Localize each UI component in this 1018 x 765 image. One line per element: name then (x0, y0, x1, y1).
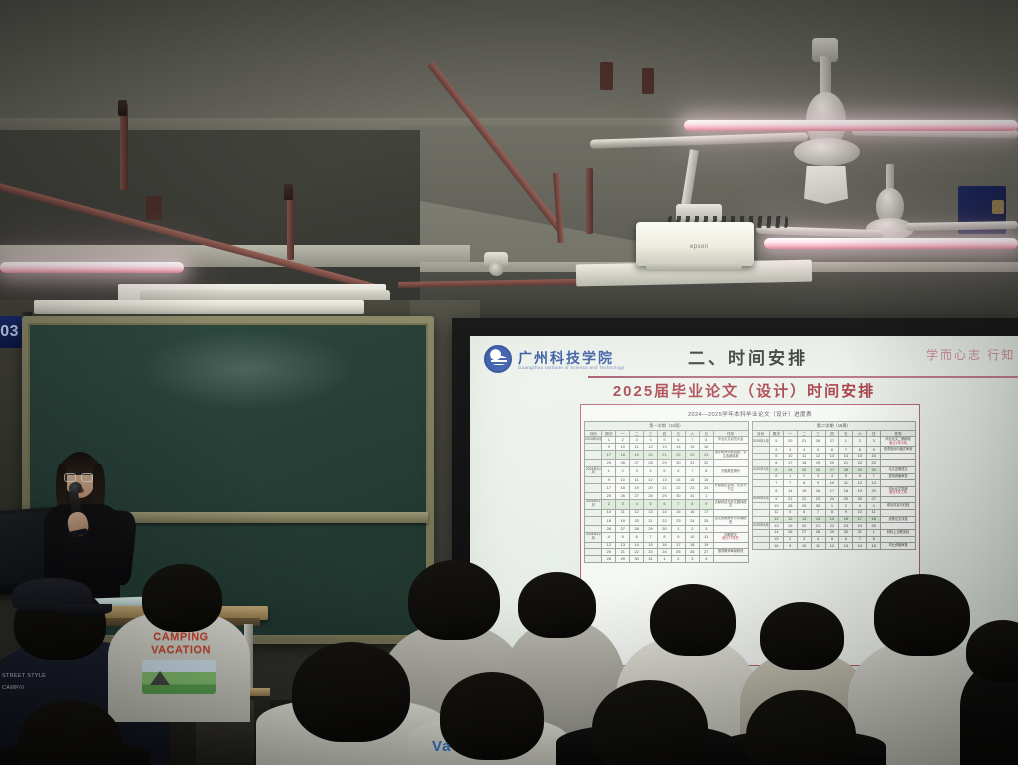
schedule-day-cell: 12 (644, 444, 658, 451)
schedule-day-cell: 9 (602, 476, 616, 483)
schedule-day-cell: 4 (602, 532, 616, 542)
schedule-day-cell: 16 (839, 516, 853, 523)
schedule-row: 617181920212223 (752, 460, 916, 467)
schedule-row: 910111213141516 (585, 444, 749, 451)
student-cap-brim (56, 604, 112, 616)
schedule-day-cell: 12 (783, 516, 797, 523)
schedule-row: 2021222324252627指导教师审阅修改 (585, 549, 749, 556)
room-number-sign: 03 (0, 316, 22, 348)
schedule-day-cell: 6 (658, 499, 672, 509)
schedule-day-cell: 24 (699, 483, 713, 493)
schedule-day-cell: 23 (685, 483, 699, 493)
schedule-day-cell: 8 (769, 487, 783, 497)
schedule-day-cell: 27 (797, 529, 811, 536)
schedule-day-cell: 29 (658, 493, 672, 500)
schedule-day-cell: 15 (685, 444, 699, 451)
schedule-month-cell: 2025年1月 (752, 437, 769, 447)
schedule-row: 152345678 (752, 536, 916, 543)
schedule-day-cell: 3 (853, 503, 867, 510)
schedule-day-cell: 19 (811, 460, 825, 467)
schedule-day-cell: 7 (685, 437, 699, 444)
schedule-month-cell: 2025年5月 (752, 523, 769, 530)
schedule-day-cell: 21 (644, 516, 658, 526)
schedule-day-cell: 7 (783, 480, 797, 487)
schedule-day-cell: 31 (685, 460, 699, 467)
schedule-day-cell: 8 (797, 480, 811, 487)
schedule-table-frame: 2024—2025学年本科毕业论文（设计）进度表 第一学期（16周） 月份周次一… (580, 404, 920, 666)
schedule-day-cell: 6 (630, 532, 644, 542)
schedule-day-cell: 30 (867, 466, 881, 473)
lecture-hall-photo: epson 03 (0, 0, 1018, 765)
schedule-day-cell: 13 (839, 543, 853, 550)
schedule-day-cell: 26 (853, 496, 867, 503)
schedule-day-cell: 2 (853, 437, 867, 447)
schedule-day-cell: 5 (658, 466, 672, 476)
projector-brand-label: epson (690, 244, 708, 250)
semester-2-body: 2025年1月520212627123毕业论文二稿修改截止1月中旬2345678… (752, 437, 916, 549)
schedule-day-cell: 15 (853, 453, 867, 460)
schedule-day-cell: 25 (797, 466, 811, 473)
schedule-day-cell: 21 (839, 460, 853, 467)
student-head-front-1 (292, 642, 410, 742)
schedule-month-cell (752, 516, 769, 523)
schedule-day-cell: 5 (839, 473, 853, 480)
schedule-month-cell (752, 529, 769, 536)
schedule-day-cell: 8 (685, 499, 699, 509)
schedule-day-cell: 29 (658, 460, 672, 467)
schedule-day-cell: 18 (839, 487, 853, 497)
schedule-day-cell: 12 (769, 516, 783, 523)
schedule-day-cell: 16 (811, 487, 825, 497)
schedule-day-cell: 18 (602, 516, 616, 526)
student-head-7 (874, 574, 970, 656)
schedule-day-cell: 20 (867, 487, 881, 497)
schedule-month-cell: 2024年12月 (585, 532, 602, 542)
fluorescent-tube-3 (0, 262, 184, 273)
student-head-4 (518, 572, 596, 638)
schedule-day-cell: 23 (644, 549, 658, 556)
schedule-day-cell: 28 (602, 556, 616, 563)
fluorescent-tube-1 (684, 120, 1018, 131)
schedule-day-cell: 8 (825, 509, 839, 516)
schedule-day-cell: 22 (671, 483, 685, 493)
schedule-month-cell (752, 473, 769, 480)
schedule-note-cell (713, 460, 748, 467)
schedule-day-cell: 25 (602, 460, 616, 467)
schedule-row: 252627282930311 (585, 493, 749, 500)
schedule-row: 2025年4月921222324252627 (752, 496, 916, 503)
student-head-3 (408, 560, 500, 640)
schedule-day-cell: 15 (825, 516, 839, 523)
schedule-note-cell: 开题报告撰写 (713, 466, 748, 476)
schedule-day-cell: 12 (811, 453, 825, 460)
schedule-day-cell: 2 (797, 473, 811, 480)
schedule-day-cell: 30 (839, 529, 853, 536)
schedule-day-cell: 16 (867, 453, 881, 460)
schedule-row: 1819202122232425论文初稿撰写与中期检查 (585, 516, 749, 526)
schedule-day-cell: 19 (783, 523, 797, 530)
schedule-month-cell (752, 453, 769, 460)
schedule-day-cell: 8 (658, 532, 672, 542)
schedule-day-cell: 2 (685, 526, 699, 533)
schedule-row: 61234567答辩资格审查 (752, 473, 916, 480)
schedule-note-cell (713, 509, 748, 516)
schedule-day-cell: 10 (685, 532, 699, 542)
schedule-day-cell: 28 (630, 526, 644, 533)
schedule-day-cell: 30 (671, 493, 685, 500)
schedule-day-cell: 2 (783, 536, 797, 543)
schedule-day-cell: 20 (644, 483, 658, 493)
schedule-month-cell (752, 487, 769, 497)
schedule-row: 142627282930311材料上交教务处 (752, 529, 916, 536)
schedule-day-cell: 6 (671, 466, 685, 476)
navy-shirt-print-line2: CAMP/// (2, 684, 25, 692)
schedule-day-cell: 3 (811, 473, 825, 480)
schedule-day-cell: 29 (644, 526, 658, 533)
semester-1-table: 月份周次一二三四五六日任务 2024年9月12345678毕业论文动员大会910… (584, 430, 749, 563)
presenter-glasses-right-lens (81, 473, 93, 482)
pipe-drop-left (120, 104, 128, 190)
schedule-day-cell: 20 (602, 549, 616, 556)
slide-divider-rule (588, 376, 1018, 378)
schedule-day-cell: 9 (839, 509, 853, 516)
schedule-day-cell: 14 (630, 542, 644, 549)
schedule-day-cell: 30 (671, 460, 685, 467)
schedule-day-cell: 18 (797, 460, 811, 467)
schedule-day-cell: 20 (825, 460, 839, 467)
schedule-row: 102829301234成绩评定与归档 (752, 503, 916, 510)
tshirt-text-line2: VACATION (126, 645, 236, 657)
schedule-day-cell: 22 (853, 460, 867, 467)
student-head-5 (650, 584, 736, 656)
schedule-day-cell: 1 (699, 493, 713, 500)
schedule-day-cell: 10 (825, 480, 839, 487)
schedule-month-cell (752, 509, 769, 516)
schedule-day-cell: 12 (853, 480, 867, 487)
schedule-day-cell: 10 (616, 476, 630, 483)
schedule-day-cell: 11 (630, 476, 644, 483)
schedule-day-cell: 15 (671, 509, 685, 516)
schedule-day-cell: 14 (671, 444, 685, 451)
schedule-day-cell: 6 (769, 473, 783, 480)
schedule-row: 2024年10月12345678开题报告撰写 (585, 466, 749, 476)
fan-hanging-paper (804, 166, 848, 204)
schedule-day-cell: 22 (658, 516, 672, 526)
schedule-day-cell: 29 (797, 503, 811, 510)
schedule-day-cell: 10 (616, 444, 630, 451)
schedule-day-cell: 6 (839, 536, 853, 543)
schedule-day-cell: 11 (811, 543, 825, 550)
pipe-fitting-b (600, 62, 613, 90)
schedule-day-cell: 15 (797, 487, 811, 497)
schedule-day-cell: 16 (699, 476, 713, 483)
schedule-day-cell: 7 (671, 499, 685, 509)
pipe-fitting-a (146, 196, 162, 220)
schedule-day-cell: 22 (671, 450, 685, 460)
schedule-day-cell: 27 (616, 526, 630, 533)
schedule-day-cell: 29 (853, 466, 867, 473)
schedule-row: 282930311234 (585, 556, 749, 563)
schedule-day-cell: 6 (853, 473, 867, 480)
schedule-row: 2024年9月12345678毕业论文动员大会 (585, 437, 749, 444)
semester-2-header: 第二学期（16周） (752, 421, 917, 430)
schedule-day-cell: 21 (616, 549, 630, 556)
schedule-day-cell: 15 (867, 543, 881, 550)
schedule-day-cell: 1 (658, 556, 672, 563)
schedule-day-cell: 21 (811, 523, 825, 530)
schedule-month-cell (585, 460, 602, 467)
schedule-note-cell: 文献综述与外文翻译提交 (713, 499, 748, 509)
sprinkler-head-left (118, 100, 127, 116)
schedule-day-cell: 3 (616, 499, 630, 509)
schedule-day-cell: 3 (630, 466, 644, 476)
schedule-month-cell (752, 460, 769, 467)
schedule-day-cell: 28 (839, 466, 853, 473)
schedule-day-cell: 21 (783, 496, 797, 503)
schedule-day-cell: 19 (630, 483, 644, 493)
schedule-day-cell: 7 (853, 536, 867, 543)
schedule-day-cell: 24 (685, 516, 699, 526)
schedule-day-cell: 20 (783, 437, 797, 447)
schedule-day-cell: 19 (853, 487, 867, 497)
schedule-row: 778910111213 (752, 480, 916, 487)
schedule-month-cell: 2025年4月 (752, 496, 769, 503)
schedule-note-cell: 查重检测与格式审查 (881, 446, 916, 453)
schedule-day-cell: 14 (853, 543, 867, 550)
student-head-front-2 (440, 672, 544, 760)
schedule-day-cell: 22 (630, 549, 644, 556)
schedule-day-cell: 16 (699, 444, 713, 451)
schedule-day-cell: 20 (644, 450, 658, 460)
schedule-day-cell: 30 (630, 556, 644, 563)
schedule-table-caption: 2024—2025学年本科毕业论文（设计）进度表 (584, 408, 916, 421)
schedule-day-cell: 12 (630, 509, 644, 516)
schedule-day-cell: 16 (769, 543, 783, 550)
schedule-day-cell: 22 (797, 496, 811, 503)
schedule-day-cell: 1 (783, 473, 797, 480)
schedule-day-cell: 2 (769, 446, 783, 453)
schedule-day-cell: 26 (811, 466, 825, 473)
schedule-day-cell: 17 (602, 450, 616, 460)
schedule-day-cell: 14 (658, 509, 672, 516)
schedule-day-cell: 9 (769, 496, 783, 503)
schedule-day-cell: 18 (616, 483, 630, 493)
schedule-note-cell: 优秀论文评选 (881, 516, 916, 523)
schedule-month-cell: 2024年11月 (585, 499, 602, 509)
schedule-day-cell: 2 (616, 466, 630, 476)
schedule-day-cell: 27 (699, 549, 713, 556)
schedule-day-cell: 8 (853, 446, 867, 453)
schedule-day-cell: 14 (769, 529, 783, 536)
schedule-day-cell: 13 (797, 516, 811, 523)
schedule-day-cell: 18 (685, 542, 699, 549)
schedule-day-cell: 5 (658, 437, 672, 444)
schedule-month-cell (585, 516, 602, 526)
slide-slogan: 学而心志 行知 (926, 346, 1015, 363)
schedule-row: 2025年5月1319202122232425 (752, 523, 916, 530)
schedule-day-cell: 25 (867, 523, 881, 530)
schedule-day-cell: 10 (783, 453, 797, 460)
schedule-day-cell: 4 (867, 503, 881, 510)
schedule-day-cell: 30 (811, 503, 825, 510)
schedule-note-cell (713, 556, 748, 563)
schedule-day-cell: 4 (699, 556, 713, 563)
schedule-day-cell: 9 (602, 444, 616, 451)
schedule-row: 1718192021222324指导教师申报选题、学生选题填报 (585, 450, 749, 460)
schedule-day-cell: 17 (602, 483, 616, 493)
schedule-day-cell: 14 (671, 476, 685, 483)
schedule-row: 1011121314151617 (585, 509, 749, 516)
schedule-day-cell: 2 (616, 437, 630, 444)
schedule-day-cell: 2 (671, 556, 685, 563)
schedule-day-cell: 3 (783, 446, 797, 453)
schedule-row: 2025年3月824252627282930论文定稿提交 (752, 466, 916, 473)
schedule-day-cell: 10 (769, 503, 783, 510)
schedule-month-cell (585, 526, 602, 533)
schedule-day-cell: 4 (644, 466, 658, 476)
schedule-day-cell: 31 (644, 556, 658, 563)
schedule-day-cell: 9 (671, 532, 685, 542)
schedule-note-cell (881, 536, 916, 543)
schedule-day-cell: 7 (685, 466, 699, 476)
schedule-day-cell: 6 (825, 446, 839, 453)
schedule-month-cell (585, 542, 602, 549)
student-head-2 (142, 564, 222, 632)
schedule-day-cell: 5 (783, 509, 797, 516)
schedule-day-cell: 4 (630, 499, 644, 509)
schedule-day-cell: 26 (783, 529, 797, 536)
schedule-day-cell: 25 (671, 549, 685, 556)
schedule-day-cell: 1 (602, 466, 616, 476)
schedule-day-cell: 2 (839, 503, 853, 510)
security-camera-lens (489, 262, 504, 276)
schedule-day-cell: 5 (769, 453, 783, 460)
schedule-day-cell: 11 (839, 480, 853, 487)
schedule-day-cell: 9 (783, 543, 797, 550)
tshirt-graphic (142, 660, 216, 694)
schedule-note-cell: 初稿提交截止12月底 (713, 532, 748, 542)
schedule-day-cell: 1 (825, 503, 839, 510)
schedule-day-cell: 3 (867, 437, 881, 447)
university-name-english: Guangzhou Institute of Science and Techn… (518, 365, 624, 370)
schedule-row: 23456789查重检测与格式审查 (752, 446, 916, 453)
schedule-note-cell: 毕业论文答辩截止5月上旬 (881, 487, 916, 497)
schedule-day-cell: 31 (685, 493, 699, 500)
schedule-day-cell: 13 (658, 476, 672, 483)
schedule-note-cell: 材料上交教务处 (881, 529, 916, 536)
schedule-day-cell: 23 (839, 523, 853, 530)
schedule-day-cell: 21 (658, 483, 672, 493)
schedule-day-cell: 2 (602, 499, 616, 509)
schedule-day-cell: 25 (602, 493, 616, 500)
schedule-day-cell: 23 (867, 460, 881, 467)
schedule-day-cell: 3 (630, 437, 644, 444)
schedule-row: 2024年11月23456789文献综述与外文翻译提交 (585, 499, 749, 509)
schedule-day-cell: 30 (658, 526, 672, 533)
blackboard-top-strip (34, 300, 364, 314)
schedule-note-cell: 答辩资格审查 (881, 473, 916, 480)
schedule-row: 1718192021222324开题报告答辩、任务书下达 (585, 483, 749, 493)
projector-base (646, 262, 742, 271)
schedule-day-cell: 15 (685, 476, 699, 483)
schedule-row: 1212131415161718优秀论文评选 (752, 516, 916, 523)
schedule-day-cell: 15 (644, 542, 658, 549)
schedule-day-cell: 13 (867, 480, 881, 487)
blue-shirt-print: Va (432, 738, 452, 755)
schedule-day-cell: 20 (797, 523, 811, 530)
schedule-day-cell: 23 (685, 450, 699, 460)
schedule-day-cell: 21 (658, 450, 672, 460)
schedule-day-cell: 20 (630, 516, 644, 526)
schedule-day-cell: 5 (769, 437, 783, 447)
schedule-day-cell: 7 (811, 509, 825, 516)
schedule-month-cell (752, 543, 769, 550)
schedule-day-cell: 25 (839, 496, 853, 503)
schedule-day-cell: 13 (616, 542, 630, 549)
fluorescent-tube-2 (764, 238, 1018, 249)
schedule-month-cell: 2025年3月 (752, 466, 769, 473)
schedule-row: 2024年12月4567891011初稿提交截止12月底 (585, 532, 749, 542)
schedule-day-cell: 17 (783, 460, 797, 467)
schedule-month-cell (585, 509, 602, 516)
schedule-day-cell: 31 (853, 529, 867, 536)
schedule-note-cell: 指导教师申报选题、学生选题填报 (713, 450, 748, 460)
schedule-note-cell (713, 542, 748, 549)
schedule-day-cell: 22 (825, 523, 839, 530)
schedule-day-cell: 4 (797, 446, 811, 453)
schedule-day-cell: 11 (616, 509, 630, 516)
schedule-day-cell: 11 (797, 453, 811, 460)
schedule-day-cell: 24 (783, 466, 797, 473)
schedule-month-cell (752, 536, 769, 543)
schedule-day-cell: 15 (769, 536, 783, 543)
schedule-table-semester-2: 第二学期（16周） 月份周次一二三四五六日任务 2025年1月520212627… (752, 421, 917, 563)
semester-1-header: 第一学期（16周） (584, 421, 749, 430)
schedule-day-cell: 3 (685, 556, 699, 563)
schedule-note-cell (881, 523, 916, 530)
schedule-day-cell: 19 (616, 516, 630, 526)
schedule-row: 510111213141516 (752, 453, 916, 460)
schedule-note-cell: 论文初稿撰写与中期检查 (713, 516, 748, 526)
schedule-note-cell: 毕业资格审核 (881, 543, 916, 550)
room-number-text: 03 (0, 323, 19, 341)
student-head-6 (760, 602, 844, 670)
schedule-day-cell: 14 (783, 487, 797, 497)
schedule-day-cell: 17 (853, 516, 867, 523)
schedule-day-cell: 4 (811, 536, 825, 543)
semester-2-table: 月份周次一二三四五六日任务 2025年1月520212627123毕业论文二稿修… (752, 430, 917, 550)
slide-title: 2025届毕业论文（设计）时间安排 (470, 380, 1018, 401)
schedule-day-cell: 18 (616, 450, 630, 460)
schedule-day-cell: 5 (811, 446, 825, 453)
schedule-day-cell: 8 (769, 466, 783, 473)
schedule-row: 1213141516171819 (585, 542, 749, 549)
schedule-note-cell: 毕业论文二稿修改截止1月中旬 (881, 437, 916, 447)
schedule-note-cell (881, 453, 916, 460)
schedule-day-cell: 6 (671, 437, 685, 444)
schedule-day-cell: 13 (769, 523, 783, 530)
schedule-day-cell: 13 (825, 453, 839, 460)
schedule-day-cell: 16 (658, 542, 672, 549)
schedule-row: 2526272829303132 (585, 460, 749, 467)
schedule-note-cell: 开题报告答辩、任务书下达 (713, 483, 748, 493)
schedule-day-cell: 12 (644, 476, 658, 483)
schedule-day-cell: 26 (811, 437, 825, 447)
schedule-day-cell: 13 (644, 509, 658, 516)
schedule-note-cell (713, 444, 748, 451)
schedule-note-cell: 成绩评定与归档 (881, 503, 916, 510)
schedule-note-cell: 论文定稿提交 (881, 466, 916, 473)
